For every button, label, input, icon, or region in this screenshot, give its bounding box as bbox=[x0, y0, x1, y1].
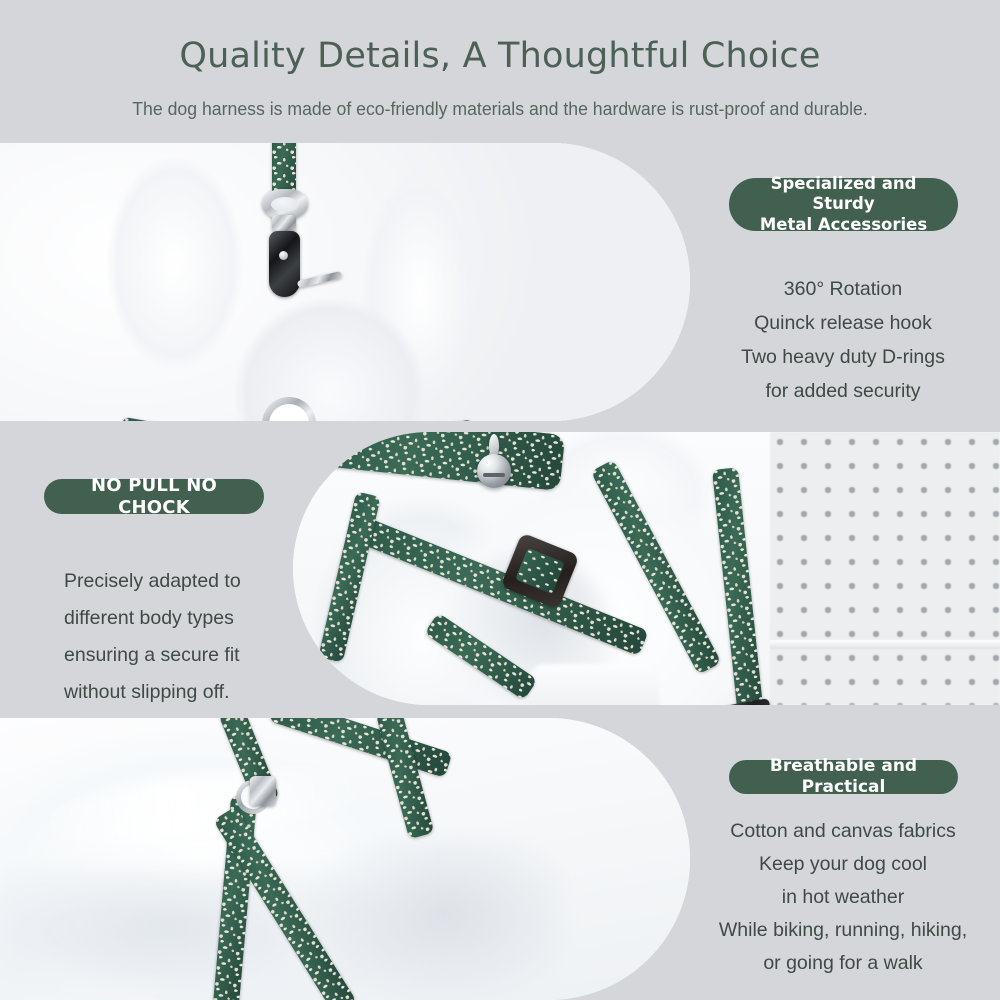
d-ring-upper-hole bbox=[271, 197, 299, 212]
product-photo-metal-accessories bbox=[0, 143, 690, 421]
junction-slider bbox=[250, 776, 276, 806]
photo-metal-accessories bbox=[0, 143, 690, 421]
badge-no-pull: NO PULL NO CHOCK bbox=[44, 479, 264, 514]
badge-metal-accessories-label: Specialized and Sturdy Metal Accessories bbox=[751, 174, 936, 234]
mannequin-neck-base bbox=[529, 664, 659, 705]
bell-icon bbox=[477, 454, 511, 488]
copy-line: different body types bbox=[64, 600, 344, 637]
mannequin-body bbox=[0, 143, 690, 421]
swivel-barrel bbox=[272, 215, 296, 232]
badge-no-pull-label: NO PULL NO CHOCK bbox=[66, 475, 242, 519]
header: Quality Details, A Thoughtful Choice The… bbox=[0, 0, 1000, 143]
copy-line: for added security bbox=[708, 374, 978, 408]
snap-hook-rivet bbox=[279, 251, 288, 260]
copy-breathable: Cotton and canvas fabrics Keep your dog … bbox=[708, 815, 978, 980]
copy-line: 360° Rotation bbox=[708, 272, 978, 306]
copy-line: in hot weather bbox=[708, 881, 978, 914]
copy-line: ensuring a secure fit bbox=[64, 637, 344, 674]
product-photo-breathable bbox=[0, 718, 690, 1000]
badge-metal-accessories: Specialized and Sturdy Metal Accessories bbox=[729, 178, 958, 231]
bell-slit bbox=[483, 473, 505, 477]
badge-breathable: Breathable and Practical bbox=[729, 760, 958, 794]
photo-fit bbox=[293, 432, 1000, 705]
copy-line: While biking, running, hiking, bbox=[708, 914, 978, 947]
copy-line: or going for a walk bbox=[708, 947, 978, 980]
copy-line: Keep your dog cool bbox=[708, 848, 978, 881]
copy-line: without slipping off. bbox=[64, 674, 344, 711]
page-subtitle: The dog harness is made of eco-friendly … bbox=[23, 98, 978, 120]
snap-hook-body bbox=[269, 231, 300, 297]
copy-line: Quinck release hook bbox=[708, 306, 978, 340]
copy-no-pull: Precisely adapted to different body type… bbox=[64, 563, 344, 711]
copy-metal-accessories: 360° Rotation Quinck release hook Two he… bbox=[708, 272, 978, 408]
photo-breathable bbox=[0, 718, 690, 1000]
copy-line: Cotton and canvas fabrics bbox=[708, 815, 978, 848]
badge-breathable-label: Breathable and Practical bbox=[751, 756, 936, 797]
copy-line: Two heavy duty D-rings bbox=[708, 340, 978, 374]
product-photo-fit bbox=[293, 432, 1000, 705]
copy-line: Precisely adapted to bbox=[64, 563, 344, 600]
page-title: Quality Details, A Thoughtful Choice bbox=[0, 36, 1000, 76]
